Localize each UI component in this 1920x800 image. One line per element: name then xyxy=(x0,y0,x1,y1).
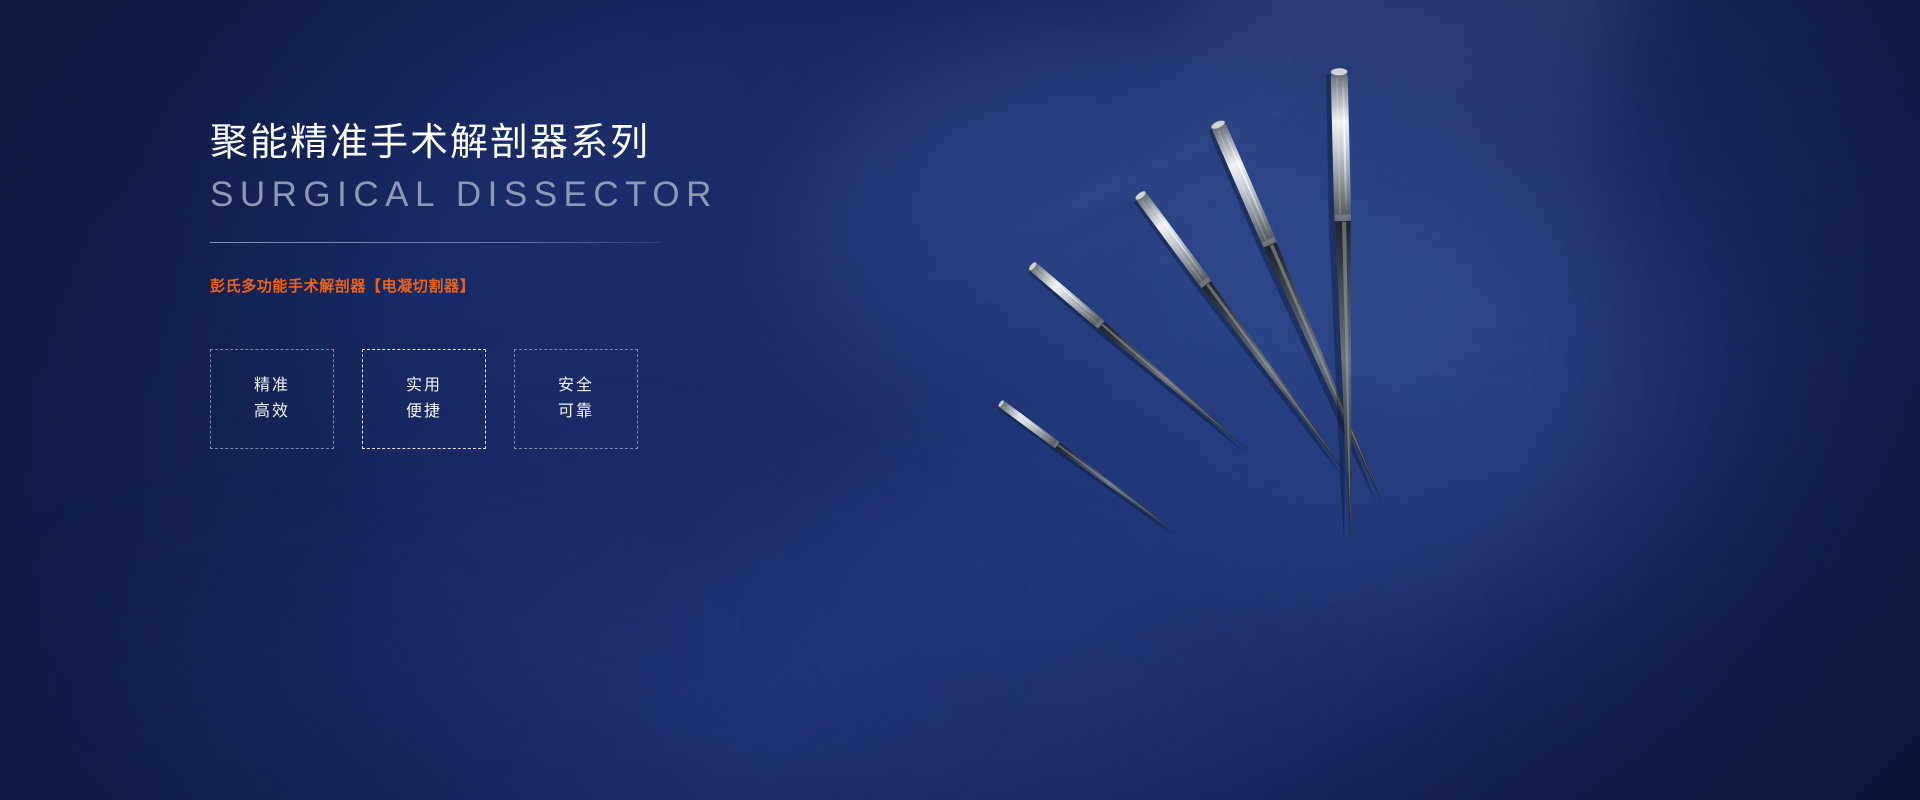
feature-box-line-2: 便捷 xyxy=(406,404,442,420)
feature-box-line-2: 高效 xyxy=(254,404,290,420)
feature-box-precision[interactable]: 精准 高效 xyxy=(210,349,334,449)
page-title: 聚能精准手术解剖器系列 xyxy=(210,120,770,168)
feature-box-group: 精准 高效 实用 便捷 安全 可靠 xyxy=(210,349,770,449)
feature-box-line-2: 可靠 xyxy=(558,404,594,420)
feature-box-line-1: 精准 xyxy=(254,378,290,394)
feature-box-practical[interactable]: 实用 便捷 xyxy=(362,349,486,449)
product-hero-banner: 聚能精准手术解剖器系列 SURGICAL DISSECTOR 彭氏多功能手术解剖… xyxy=(0,0,1920,800)
page-subtitle: SURGICAL DISSECTOR xyxy=(210,174,770,216)
feature-box-line-1: 实用 xyxy=(406,378,442,394)
hero-content: 聚能精准手术解剖器系列 SURGICAL DISSECTOR 彭氏多功能手术解剖… xyxy=(210,120,770,449)
product-tagline: 彭氏多功能手术解剖器【电凝切割器】 xyxy=(210,276,770,297)
feature-box-line-1: 安全 xyxy=(558,378,594,394)
title-divider xyxy=(210,242,660,243)
feature-box-safety[interactable]: 安全 可靠 xyxy=(514,349,638,449)
